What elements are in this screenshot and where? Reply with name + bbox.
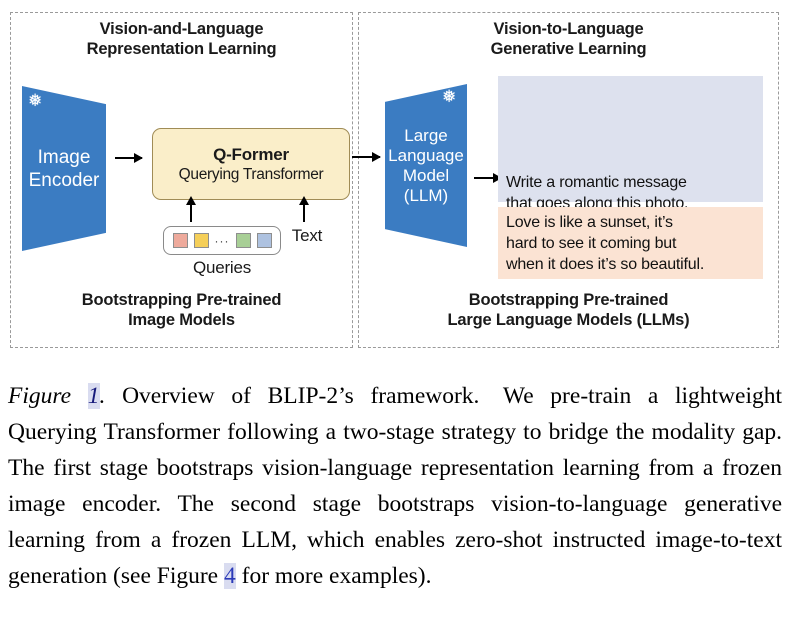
response-text-line3: when it does it’s so beautiful. [506,254,755,275]
llm-label: Large Language Model (LLM) [388,126,464,206]
arrow-llm-to-output [474,177,501,179]
image-encoder-label: Image Encoder [29,146,100,192]
prompt-text-line1: Write a romantic message [506,172,755,193]
caption-figure4-link[interactable]: 4 [224,563,236,589]
arrow-qformer-to-llm [352,156,380,158]
query-token-2 [194,233,209,248]
caption-body-part2: for more examples). [236,563,432,589]
left-panel-caption-line1: Bootstrapping Pre-trained [10,290,353,310]
qformer-block: Q-Former Querying Transformer [152,128,350,200]
arrow-text-to-qformer [303,204,305,222]
right-panel-title: Vision-to-Language Generative Learning [358,19,779,59]
llm-label-line3: Model [388,166,464,186]
left-panel-title-line2: Representation Learning [10,39,353,59]
right-panel-caption-line1: Bootstrapping Pre-trained [358,290,779,310]
left-panel-caption-line2: Image Models [10,310,353,330]
caption-body-part1: Overview of BLIP-2’s framework. We pre-t… [8,383,782,589]
query-token-1 [173,233,188,248]
llm-label-line4: (LLM) [388,186,464,206]
query-tokens-group: ··· [163,226,281,255]
right-panel-caption: Bootstrapping Pre-trained Large Language… [358,290,779,330]
caption-figure-number-link[interactable]: 1 [88,383,100,409]
figure-caption: Figure 1. Overview of BLIP-2’s framework… [8,378,782,594]
query-token-3 [236,233,251,248]
response-bubble: Love is like a sunset, it’s hard to see … [498,207,763,279]
left-panel-title-line1: Vision-and-Language [10,19,353,39]
response-text: Love is like a sunset, it’s hard to see … [506,212,755,275]
prompt-bubble: Write a romantic message that goes along… [498,76,763,202]
left-panel-caption: Bootstrapping Pre-trained Image Models [10,290,353,330]
response-text-line2: hard to see it coming but [506,233,755,254]
query-tokens-ellipsis: ··· [215,237,230,245]
arrow-queries-to-qformer [190,204,192,222]
right-panel-title-line1: Vision-to-Language [358,19,779,39]
image-encoder-label-line1: Image [29,146,100,169]
query-token-4 [257,233,272,248]
response-text-line1: Love is like a sunset, it’s [506,212,755,233]
llm-label-line1: Large [388,126,464,146]
left-panel-title: Vision-and-Language Representation Learn… [10,19,353,59]
right-panel-caption-line2: Large Language Models (LLMs) [358,310,779,330]
snowflake-icon: ❅ [442,88,456,105]
caption-figure-word: Figure [8,383,71,409]
text-input-label: Text [276,226,338,246]
caption-period: . [100,383,106,409]
figure-container: Vision-and-Language Representation Learn… [0,0,790,638]
image-encoder-label-line2: Encoder [29,169,100,192]
qformer-subtitle: Querying Transformer [179,166,324,184]
right-panel-title-line2: Generative Learning [358,39,779,59]
qformer-title: Q-Former [213,145,289,165]
large-language-model-block: Large Language Model (LLM) [385,84,467,247]
image-encoder-block: Image Encoder [22,86,106,251]
arrow-encoder-to-qformer [115,157,142,159]
snowflake-icon: ❅ [28,92,42,109]
queries-label: Queries [163,258,281,278]
llm-label-line2: Language [388,146,464,166]
